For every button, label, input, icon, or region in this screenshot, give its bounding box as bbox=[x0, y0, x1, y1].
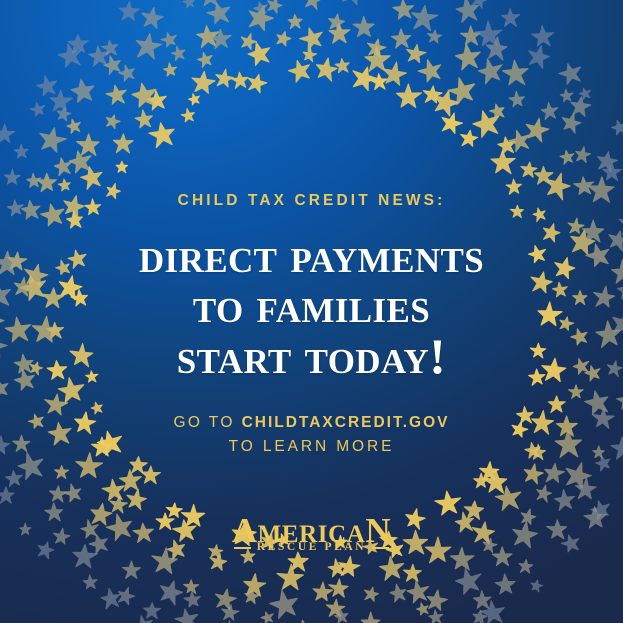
cta-subtext: TO LEARN MORE bbox=[173, 435, 449, 459]
logo-rule-right bbox=[372, 547, 389, 549]
graphic-content: CHILD TAX CREDIT NEWS: Direct payments t… bbox=[0, 0, 623, 623]
call-to-action: GO TO CHILDTAXCREDIT.GOV TO LEARN MORE bbox=[173, 411, 449, 459]
logo-letter-a: A bbox=[232, 511, 258, 550]
headline-line-3: start today! bbox=[139, 332, 484, 382]
social-graphic: CHILD TAX CREDIT NEWS: Direct payments t… bbox=[0, 0, 623, 623]
headline: Direct payments to families start today! bbox=[139, 231, 484, 382]
logo-letter-n: N bbox=[365, 511, 391, 550]
cta-url-line: GO TO CHILDTAXCREDIT.GOV bbox=[173, 411, 449, 435]
logo-subtitle: RESCUE PLAN bbox=[257, 542, 366, 554]
eyebrow-text: CHILD TAX CREDIT NEWS: bbox=[178, 193, 446, 209]
cta-prefix: GO TO bbox=[173, 414, 241, 431]
logo-rule-left bbox=[234, 547, 251, 549]
headline-line-1: Direct payments bbox=[139, 231, 484, 281]
cta-url-link[interactable]: CHILDTAXCREDIT.GOV bbox=[242, 414, 450, 431]
headline-line-2: to families bbox=[139, 281, 484, 331]
american-rescue-plan-logo: AMERICAN RESCUE PLAN bbox=[232, 513, 391, 554]
